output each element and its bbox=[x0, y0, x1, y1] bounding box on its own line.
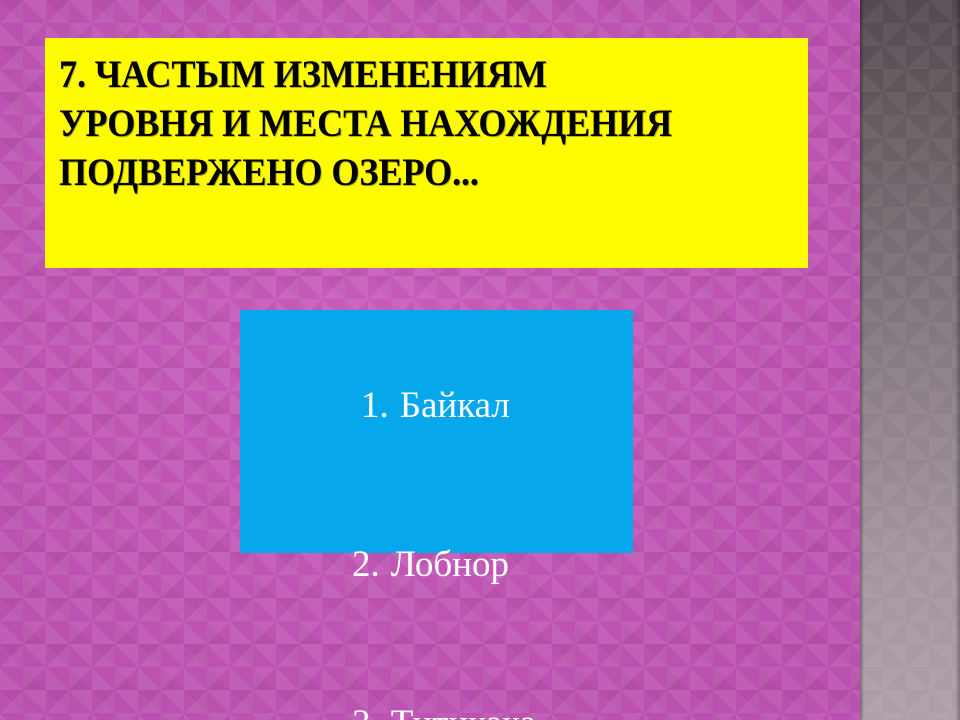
answer-option-1-number: 1. bbox=[361, 385, 389, 426]
presentation-slide: 7. ЧАСТЫМ ИЗМЕНЕНИЯМ УРОВНЯ И МЕСТА НАХО… bbox=[0, 0, 960, 720]
answer-option-2-number: 2. bbox=[352, 544, 380, 585]
answer-options-list: 1.Байкал 2.Лобнор 3.Титикака bbox=[240, 326, 633, 720]
answer-option-3-number: 3. bbox=[352, 703, 380, 720]
question-text: 7. ЧАСТЫМ ИЗМЕНЕНИЯМ УРОВНЯ И МЕСТА НАХО… bbox=[59, 50, 743, 197]
answer-option-2[interactable]: 2.Лобнор bbox=[240, 485, 633, 644]
question-banner: 7. ЧАСТЫМ ИЗМЕНЕНИЯМ УРОВНЯ И МЕСТА НАХО… bbox=[45, 38, 808, 268]
answer-option-1-label: Байкал bbox=[400, 385, 510, 426]
answer-options-box: 1.Байкал 2.Лобнор 3.Титикака bbox=[240, 310, 633, 553]
answer-option-2-label: Лобнор bbox=[391, 544, 509, 585]
answer-option-3-label: Титикака bbox=[391, 703, 536, 720]
slide-side-gradient-strip bbox=[860, 0, 960, 720]
answer-option-3[interactable]: 3.Титикака bbox=[240, 644, 633, 720]
answer-option-1[interactable]: 1.Байкал bbox=[240, 326, 633, 485]
